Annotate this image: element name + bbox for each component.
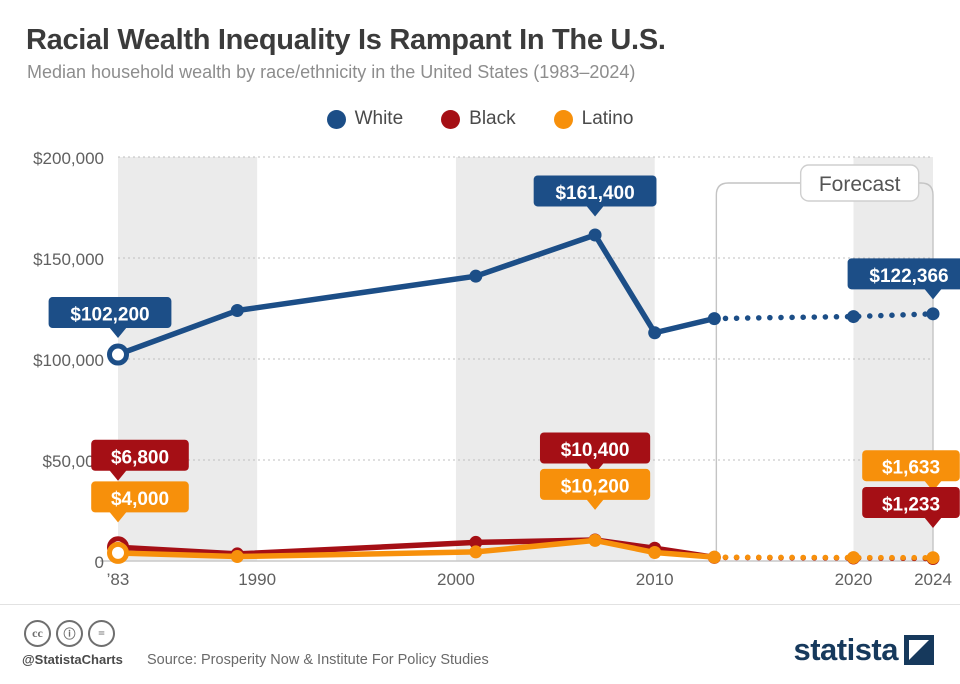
cc-nd-icon: =	[88, 620, 115, 647]
callout-value: $10,400	[561, 440, 630, 461]
creative-commons-icons: cc ⓘ =	[24, 620, 115, 647]
data-point-white-1989[interactable]	[231, 304, 244, 317]
source-note: Source: Prosperity Now & Institute For P…	[147, 652, 489, 668]
callout-value: $102,200	[70, 305, 149, 326]
x-axis-label-3: 2010	[636, 570, 674, 589]
data-point-white-2024[interactable]	[927, 307, 940, 320]
callout-value: $122,366	[869, 266, 948, 287]
x-axis-label-0: ’83	[107, 570, 130, 589]
y-axis-label-0: 0	[95, 553, 104, 572]
callout-value: $1,633	[882, 458, 940, 479]
data-point-white-2007[interactable]	[589, 228, 602, 241]
data-point-latino-2020[interactable]	[847, 551, 860, 564]
y-axis-label-3: $150,000	[33, 250, 104, 269]
y-axis-label-2: $100,000	[33, 351, 104, 370]
x-axis-label-1: 1990	[238, 570, 276, 589]
callout-value: $161,400	[555, 183, 634, 204]
data-point-latino-1983[interactable]	[110, 544, 127, 561]
data-point-latino-2024[interactable]	[927, 551, 940, 564]
x-axis-label-2: 2000	[437, 570, 475, 589]
line-chart: 0$50,000$100,000$150,000$200,000’8319902…	[0, 0, 960, 684]
data-point-latino-2010[interactable]	[648, 546, 661, 559]
y-axis-label-4: $200,000	[33, 149, 104, 168]
statista-mark-icon	[904, 635, 934, 665]
x-axis-label-5: 2024	[914, 570, 952, 589]
statista-wordmark: statista	[793, 634, 898, 665]
data-point-white-2013[interactable]	[708, 312, 721, 325]
callout-value: $4,000	[111, 489, 169, 510]
callout-value: $10,200	[561, 476, 630, 497]
data-point-latino-2007[interactable]	[589, 534, 602, 547]
data-point-white-2010[interactable]	[648, 326, 661, 339]
statista-logo: statista	[793, 634, 934, 665]
cc-icon: cc	[24, 620, 51, 647]
data-point-white-1983[interactable]	[110, 346, 127, 363]
forecast-label: Forecast	[819, 173, 901, 196]
chart-page: Racial Wealth Inequality Is Rampant In T…	[0, 0, 960, 684]
cc-by-icon: ⓘ	[56, 620, 83, 647]
data-point-white-2020[interactable]	[847, 310, 860, 323]
callout-value: $1,233	[882, 495, 940, 516]
footer-divider	[0, 604, 960, 605]
statista-handle: @StatistaCharts	[22, 652, 123, 667]
data-point-latino-2013[interactable]	[708, 551, 721, 564]
callout-value: $6,800	[111, 447, 169, 468]
data-point-latino-2001[interactable]	[469, 545, 482, 558]
data-point-latino-1989[interactable]	[231, 550, 244, 563]
x-axis-label-4: 2020	[835, 570, 873, 589]
data-point-white-2001[interactable]	[469, 270, 482, 283]
